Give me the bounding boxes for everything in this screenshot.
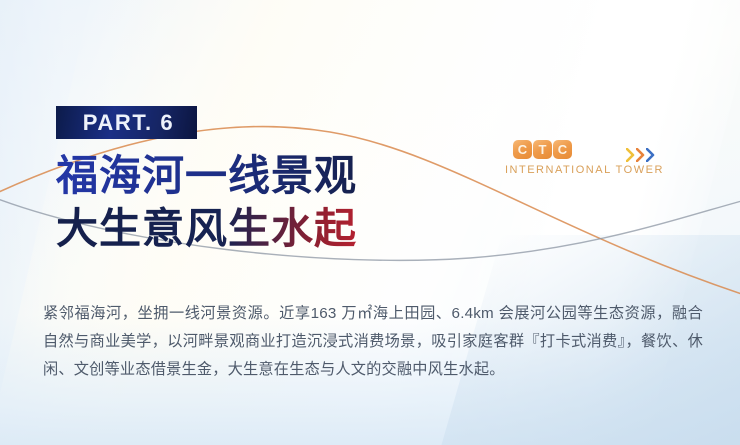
logo-letter-3: C — [553, 140, 572, 159]
chevron-right-yellow-icon — [626, 148, 635, 162]
logo-subtitle: INTERNATIONAL TOWER — [505, 164, 680, 176]
chevron-right-orange-icon — [636, 148, 645, 162]
part-badge: PART. 6 — [56, 106, 197, 139]
body-paragraph: 紧邻福海河，坐拥一线河景资源。近享163 万㎡海上田园、6.4km 会展河公园等… — [43, 300, 703, 384]
headline-line-2: 大生意风生水起 — [56, 203, 476, 256]
headline-block: 福海河一线景观 大生意风生水起 — [56, 150, 476, 256]
part-badge-label: PART. 6 — [79, 112, 174, 134]
headline-line-1: 福海河一线景观 — [56, 150, 476, 203]
chevron-group — [626, 148, 655, 162]
logo-letter-2: T — [533, 140, 552, 159]
slide-canvas: PART. 6 福海河一线景观 大生意风生水起 C T C INTERNATIO… — [0, 0, 740, 445]
logo-letter-1: C — [513, 140, 532, 159]
chevron-right-blue-icon — [646, 148, 655, 162]
